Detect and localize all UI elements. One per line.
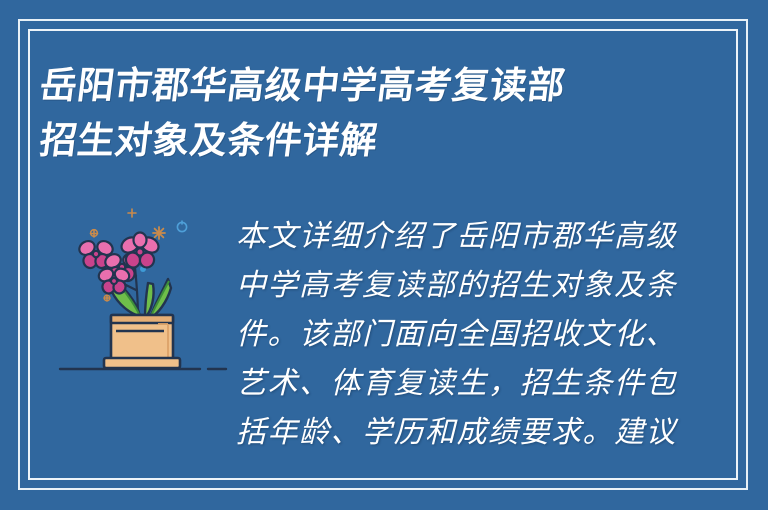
body-line-2: 中学高考复读部的招生对象及条 <box>236 261 656 310</box>
body-line-1: 本文详细介绍了岳阳市郡华高级 <box>236 212 656 261</box>
title-line-2: 招生对象及条件详解 <box>37 113 684 168</box>
body-line-3: 件。该部门面向全国招收文化、 <box>236 310 656 359</box>
poster-canvas: 岳阳市郡华高级中学高考复读部 招生对象及条件详解 <box>0 0 768 510</box>
orchid-illustration <box>52 200 232 380</box>
page-title: 岳阳市郡华高级中学高考复读部 招生对象及条件详解 <box>40 58 680 168</box>
body-paragraph: 本文详细介绍了岳阳市郡华高级 中学高考复读部的招生对象及条 件。该部门面向全国招… <box>236 212 656 457</box>
title-line-1: 岳阳市郡华高级中学高考复读部 <box>37 58 684 113</box>
body-line-5: 括年龄、学历和成绩要求。建议 <box>236 408 656 457</box>
flower-pot <box>104 315 180 368</box>
body-line-4: 艺术、体育复读生，招生条件包 <box>236 359 656 408</box>
